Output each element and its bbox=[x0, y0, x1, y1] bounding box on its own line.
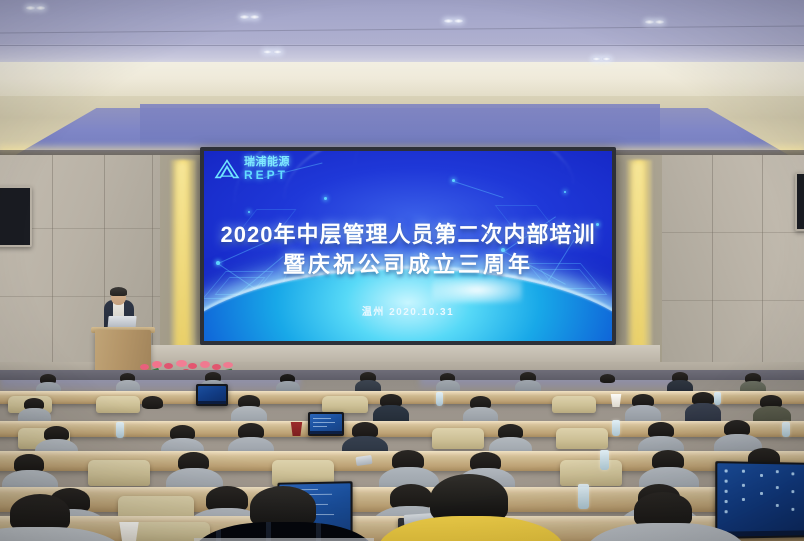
slide-title-line-1: 2020年中层管理人员第二次内部培训 bbox=[204, 217, 612, 249]
logo-english-name: REPT bbox=[244, 169, 290, 181]
seat-back bbox=[96, 396, 140, 413]
wall-monitor-right[interactable] bbox=[795, 172, 804, 231]
paper-cup[interactable] bbox=[610, 394, 622, 407]
logo-wordmark: 瑞浦能源 REPT bbox=[244, 157, 290, 181]
seat-back bbox=[322, 396, 368, 413]
water-bottle[interactable] bbox=[600, 450, 609, 470]
ceiling-spotlight bbox=[240, 15, 249, 19]
seat-back bbox=[552, 396, 596, 413]
ceiling-spotlight bbox=[26, 6, 35, 10]
water-bottle[interactable] bbox=[782, 422, 790, 437]
ceiling-spotlight bbox=[645, 20, 654, 24]
ceiling-spotlight bbox=[602, 57, 611, 61]
ceiling-upper-plane bbox=[0, 0, 804, 46]
seat-back bbox=[88, 460, 150, 486]
logo-chinese-name: 瑞浦能源 bbox=[244, 157, 290, 168]
ceiling-spotlight bbox=[263, 50, 272, 54]
ceiling-soffit-face bbox=[0, 62, 804, 98]
ceiling-spotlight bbox=[454, 19, 463, 23]
water-bottle[interactable] bbox=[436, 392, 443, 406]
ceiling-seam bbox=[0, 45, 804, 46]
ceiling-spotlight bbox=[592, 57, 601, 61]
led-video-wall-bezel: 瑞浦能源 REPT 2020年中层管理人员第二次内部培训 暨庆祝公司成立三周年 … bbox=[200, 147, 616, 345]
water-bottle[interactable] bbox=[578, 484, 589, 509]
water-bottle[interactable] bbox=[714, 392, 721, 405]
seat-back bbox=[556, 428, 608, 449]
ceiling-spotlight bbox=[655, 20, 664, 24]
company-logo: 瑞浦能源 REPT bbox=[214, 157, 290, 181]
ceiling-spotlight bbox=[250, 15, 259, 19]
water-bottle[interactable] bbox=[116, 422, 124, 438]
seat-back bbox=[560, 460, 622, 486]
water-bottle[interactable] bbox=[612, 420, 620, 436]
ceiling-spotlight bbox=[273, 50, 282, 54]
audience-seating-area bbox=[0, 370, 804, 541]
seat-back bbox=[432, 428, 484, 449]
rept-mountain-mark bbox=[214, 158, 240, 180]
ceiling-spotlight bbox=[36, 6, 45, 10]
led-video-wall-screen[interactable]: 瑞浦能源 REPT 2020年中层管理人员第二次内部培训 暨庆祝公司成立三周年 … bbox=[204, 151, 612, 341]
slide-title-line-2: 暨庆祝公司成立三周年 bbox=[204, 247, 612, 279]
slide-earth-flare bbox=[432, 277, 522, 303]
slide-footer-location-date: 温州 2020.10.31 bbox=[204, 303, 612, 318]
speaker-hair bbox=[110, 287, 127, 296]
desk-edge bbox=[0, 391, 804, 395]
wall-monitor-left[interactable] bbox=[0, 186, 32, 247]
ceiling-spotlight bbox=[444, 19, 453, 23]
conference-hall-photo: 瑞浦能源 REPT 2020年中层管理人员第二次内部培训 暨庆祝公司成立三周年 … bbox=[0, 0, 804, 541]
